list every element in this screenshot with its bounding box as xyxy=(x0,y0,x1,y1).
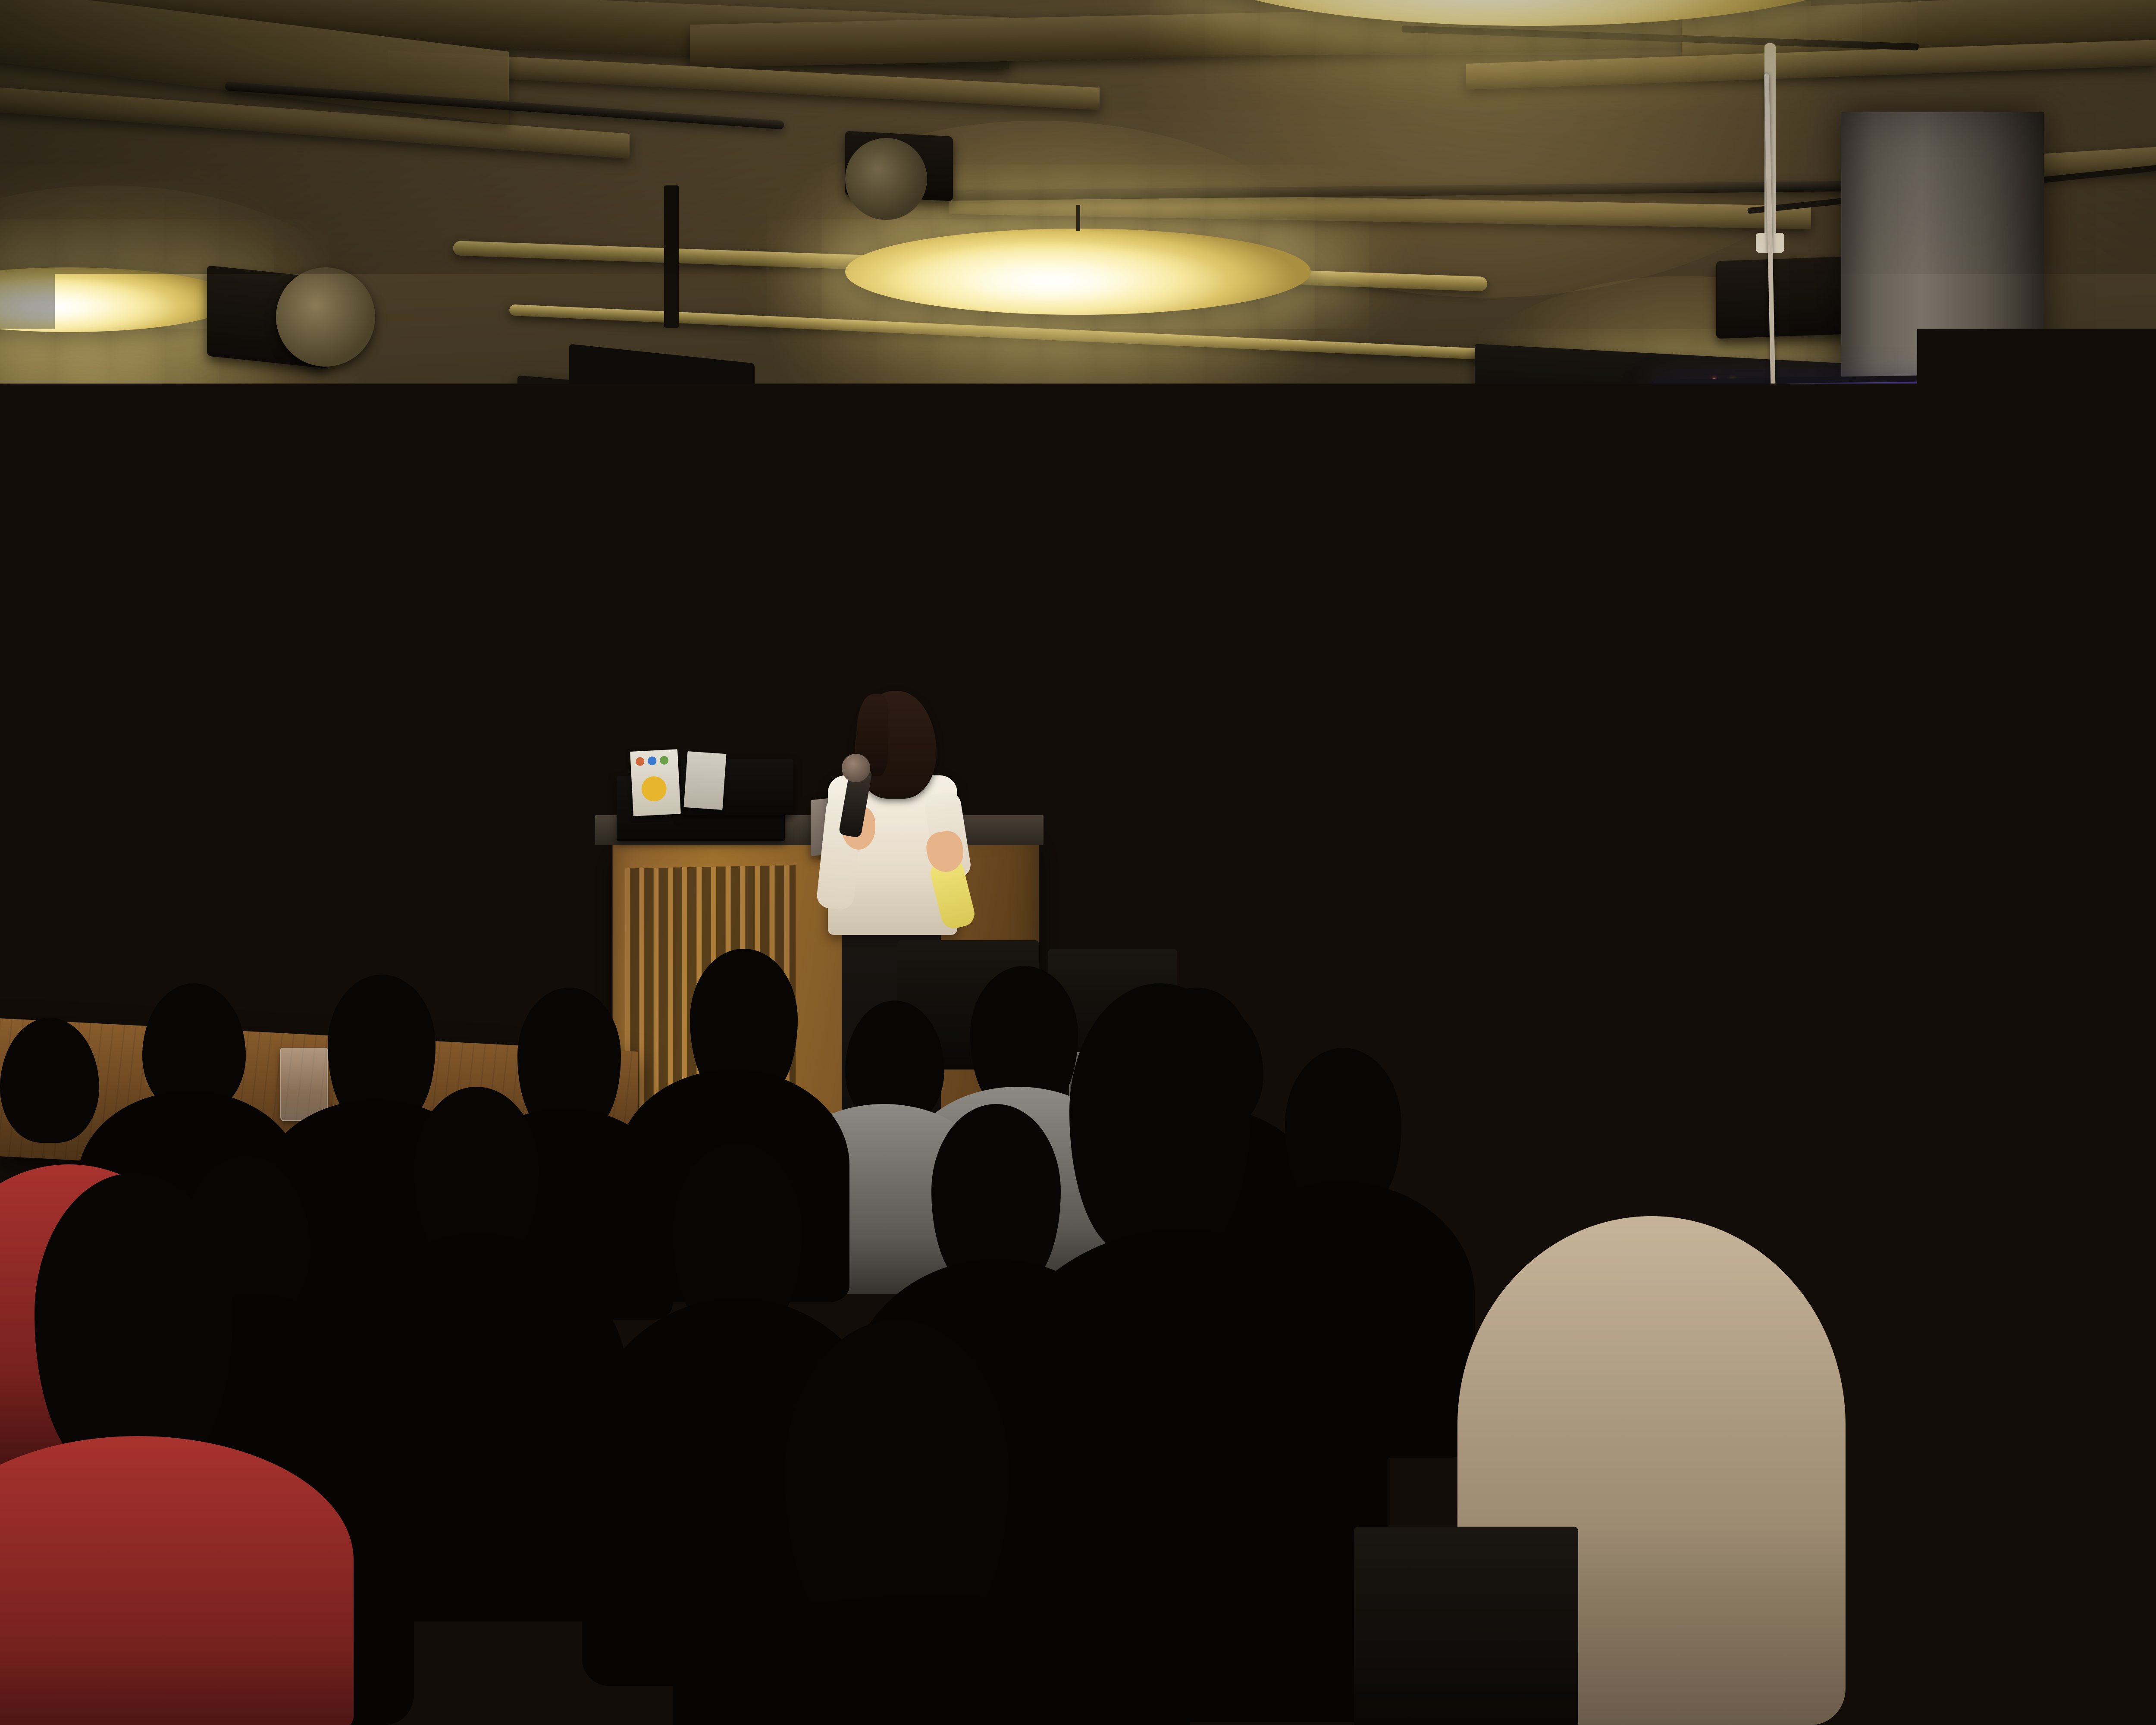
tv-slide-eyebrow: TAKING A LEAP OF FAITH xyxy=(1686,408,1799,418)
attendee-body-foreground xyxy=(0,1436,354,1725)
cable-plug-end xyxy=(1751,793,1796,831)
chair-back xyxy=(2113,1458,2156,1725)
attendee-head xyxy=(931,1104,1061,1285)
chair-back xyxy=(1354,1527,1578,1725)
eyeglasses xyxy=(1450,992,1480,1012)
wall-speaker xyxy=(216,509,310,608)
attendee-head-foreground xyxy=(785,1320,1009,1639)
hanging-cable xyxy=(1768,681,1773,750)
cable-connector xyxy=(1760,655,1786,682)
tv-bezel: TAKING A LEAP OF FAITH 7 IMPOSTER SYNDRO… xyxy=(1659,377,2156,718)
scene-root: COMMERCE FOR EVERYONE TAKING A LEAP OF F… xyxy=(0,0,2156,1725)
chair-back xyxy=(470,888,569,1000)
pendant-lamp xyxy=(845,229,1311,315)
attendee-head-foreground xyxy=(1531,970,1712,1238)
projector-mount-arm xyxy=(664,185,679,328)
attendee-head-foreground xyxy=(34,1173,233,1466)
cable-coil xyxy=(1764,742,1778,793)
eyeglasses xyxy=(1946,1091,1982,1115)
tv-monitor[interactable]: TAKING A LEAP OF FAITH 7 IMPOSTER SYNDRO… xyxy=(1653,371,2156,724)
attendee-head-foreground xyxy=(1949,1026,2122,1276)
av-rack-amplifier xyxy=(862,408,1130,484)
ceiling-speaker xyxy=(1716,257,1850,339)
cable-reel xyxy=(845,138,927,220)
attendee-head xyxy=(328,975,436,1121)
slide-eyebrow: TAKING A LEAP OF FAITH xyxy=(1237,618,1457,640)
microphone-head xyxy=(842,754,870,782)
glass-bottle xyxy=(1876,1130,1927,1302)
attendee-head-foreground xyxy=(1069,983,1250,1251)
tv-slide-body: IMPOSTER SYNDROME IS THE INABILITY TO AC… xyxy=(1684,458,2156,638)
flyer-card xyxy=(684,751,727,810)
tv-panel: TAKING A LEAP OF FAITH 7 IMPOSTER SYNDRO… xyxy=(1664,381,2156,714)
cable-reel xyxy=(276,267,375,367)
extinguisher-inspection-tag xyxy=(1949,834,2002,905)
flyer-card xyxy=(630,749,681,816)
